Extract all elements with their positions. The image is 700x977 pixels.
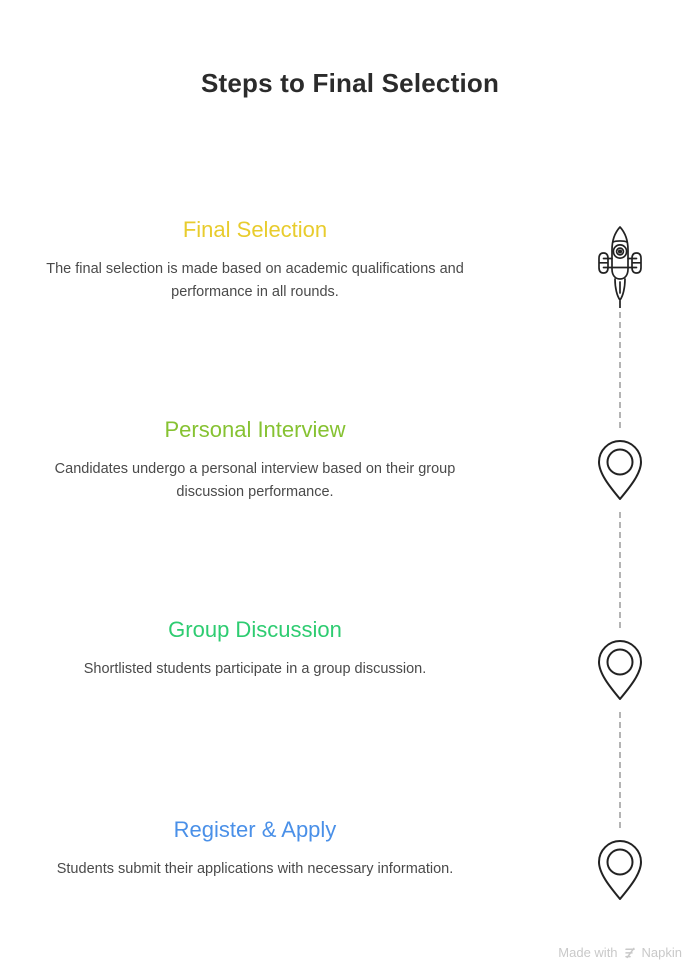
step-title: Register & Apply <box>10 816 500 844</box>
step-description: The final selection is made based on aca… <box>35 258 475 304</box>
step-description: Shortlisted students participate in a gr… <box>35 658 475 681</box>
step-item-personal-interview: Personal Interview Candidates undergo a … <box>10 416 500 504</box>
timeline-node-group-discussion <box>572 637 668 705</box>
timeline-node-register-apply <box>572 837 668 905</box>
map-pin-icon <box>592 437 648 505</box>
map-pin-icon <box>592 637 648 705</box>
step-description: Students submit their applications with … <box>35 858 475 881</box>
step-item-final-selection: Final Selection The final selection is m… <box>10 216 500 304</box>
timeline <box>572 0 668 977</box>
napkin-logo-icon <box>623 946 637 960</box>
napkin-watermark: Made with Napkin <box>558 945 682 960</box>
made-with-label: Made with <box>558 945 617 960</box>
timeline-node-final-selection <box>572 222 668 308</box>
step-title: Group Discussion <box>10 616 500 644</box>
step-description: Candidates undergo a personal interview … <box>35 458 475 504</box>
map-pin-icon <box>592 837 648 905</box>
step-item-register-apply: Register & Apply Students submit their a… <box>10 816 500 881</box>
step-title: Final Selection <box>10 216 500 244</box>
step-item-group-discussion: Group Discussion Shortlisted students pa… <box>10 616 500 681</box>
timeline-connector <box>619 312 621 428</box>
brand-label: Napkin <box>642 945 682 960</box>
infographic-page: Steps to Final Selection Final Selection… <box>0 0 700 977</box>
timeline-connector <box>619 512 621 628</box>
timeline-node-personal-interview <box>572 437 668 505</box>
timeline-connector <box>619 712 621 828</box>
step-title: Personal Interview <box>10 416 500 444</box>
rocket-icon <box>591 222 649 308</box>
